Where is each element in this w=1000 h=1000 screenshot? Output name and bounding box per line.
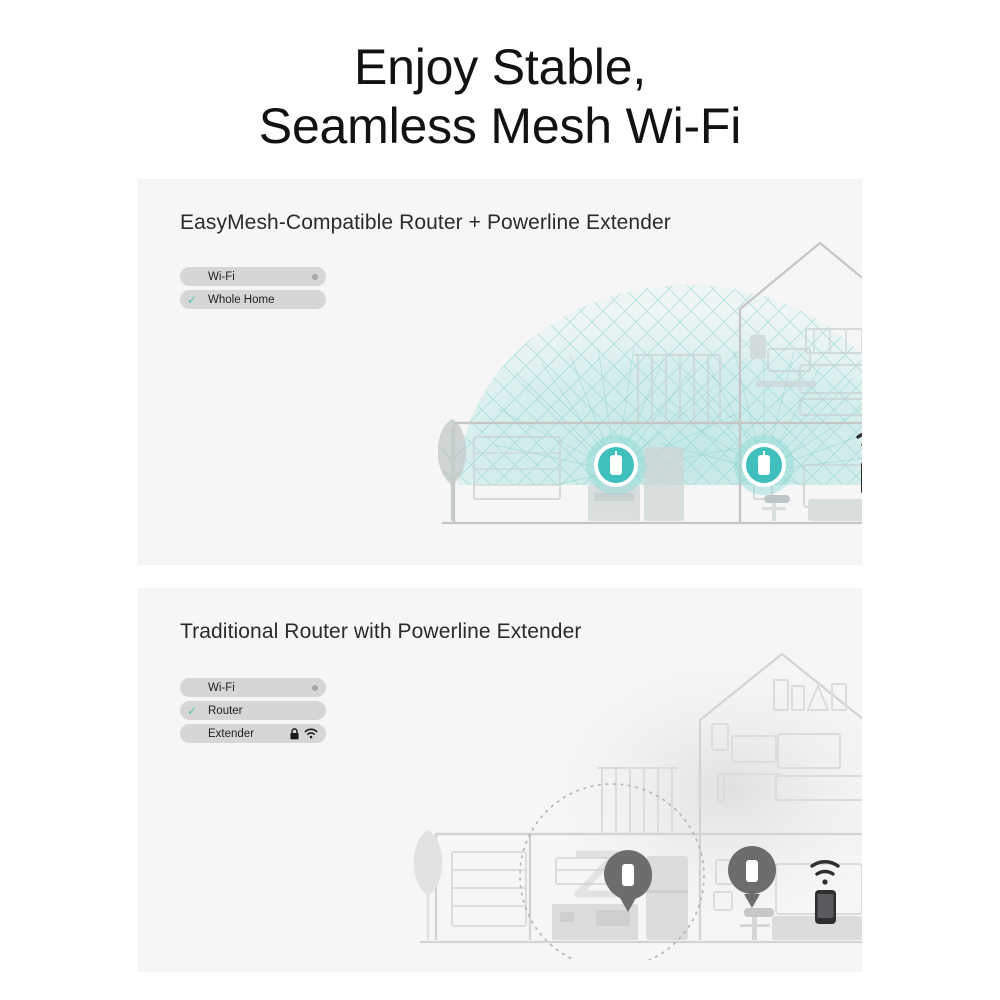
tree-left (438, 419, 466, 521)
title-line-1: Enjoy Stable, (354, 39, 646, 95)
mesh-node-marker-1 (586, 435, 646, 495)
page-title: Enjoy Stable, Seamless Mesh Wi-Fi (0, 38, 1000, 156)
house-cutaway-limited-coverage-svg (400, 640, 862, 960)
title-line-2: Seamless Mesh Wi-Fi (0, 97, 1000, 156)
tree-left (414, 830, 443, 940)
panel-easymesh: EasyMesh-Compatible Router + Powerline E… (138, 179, 862, 565)
illustration-traditional (138, 588, 862, 972)
marketing-graphic: Enjoy Stable, Seamless Mesh Wi-Fi EasyMe… (0, 0, 1000, 1000)
house-cutaway-full-mesh-coverage-svg (438, 223, 862, 553)
illustration-easymesh (138, 179, 862, 565)
mesh-node-marker-2 (734, 435, 794, 495)
panel-traditional: Traditional Router with Powerline Extend… (138, 588, 862, 972)
